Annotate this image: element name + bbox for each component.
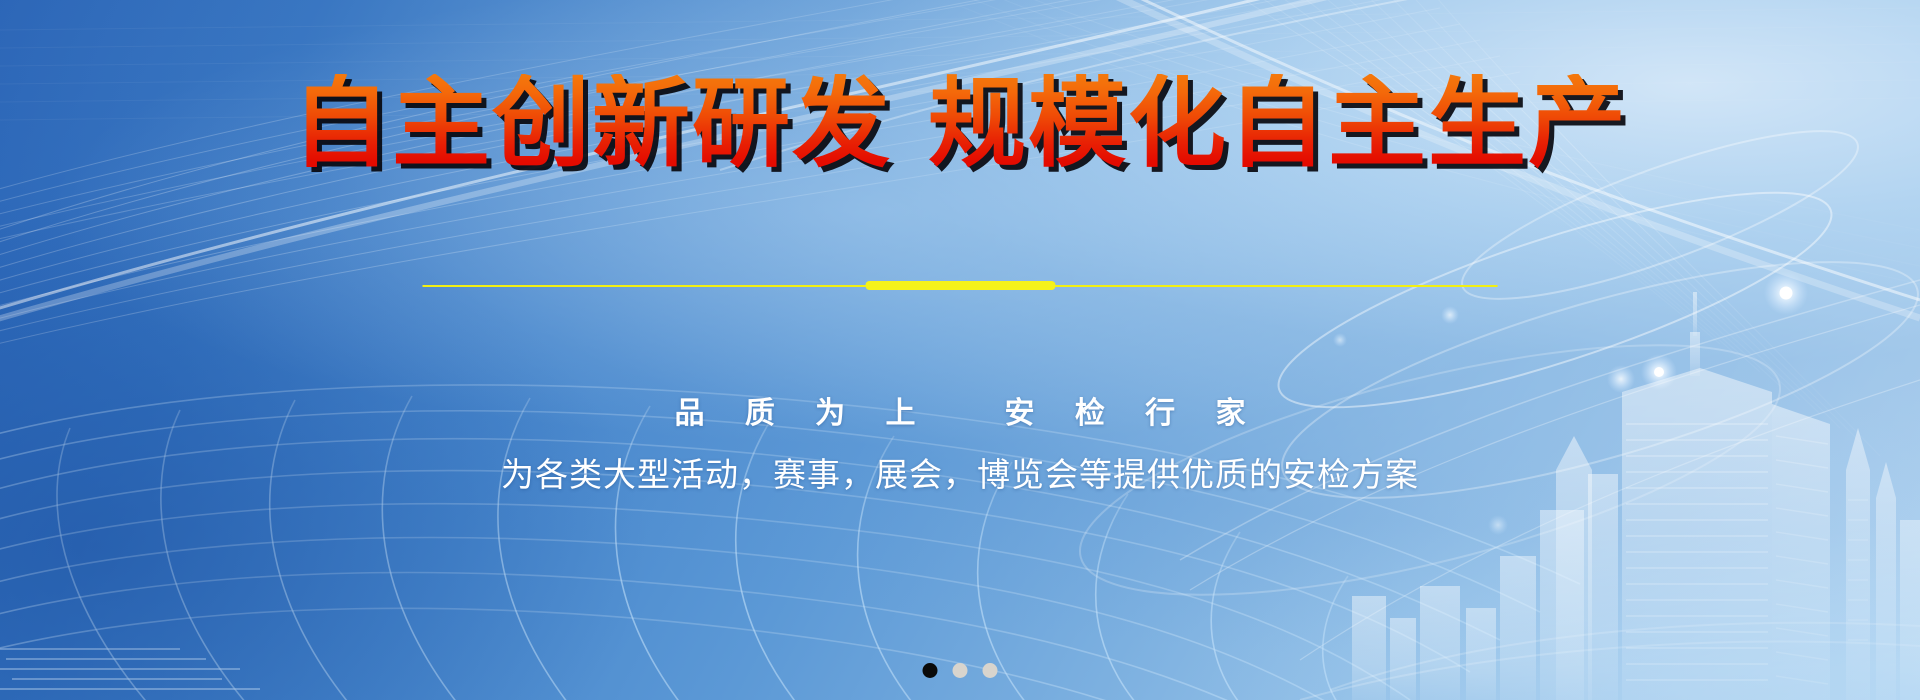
divider-rule-right [1055, 285, 1498, 287]
banner-subtitle-secondary: 为各类大型活动，赛事，展会，博览会等提供优质的安检方案 [0, 448, 1920, 496]
divider-accent-bar [865, 281, 1055, 290]
hero-banner: 自主创新研发 规模化自主生产 品 质 为 上 安 检 行 家 为各类大型活动，赛… [0, 0, 1920, 700]
carousel-dot-1[interactable] [923, 663, 938, 678]
banner-headline: 自主创新研发 规模化自主生产 [0, 74, 1920, 176]
carousel-dots[interactable] [923, 663, 998, 678]
divider-rule-left [423, 285, 866, 287]
divider [423, 283, 1498, 288]
banner-subtitle-primary: 品 质 为 上 安 检 行 家 [0, 388, 1920, 432]
carousel-dot-3[interactable] [983, 663, 998, 678]
banner-content: 自主创新研发 规模化自主生产 品 质 为 上 安 检 行 家 为各类大型活动，赛… [0, 0, 1920, 700]
carousel-dot-2[interactable] [953, 663, 968, 678]
